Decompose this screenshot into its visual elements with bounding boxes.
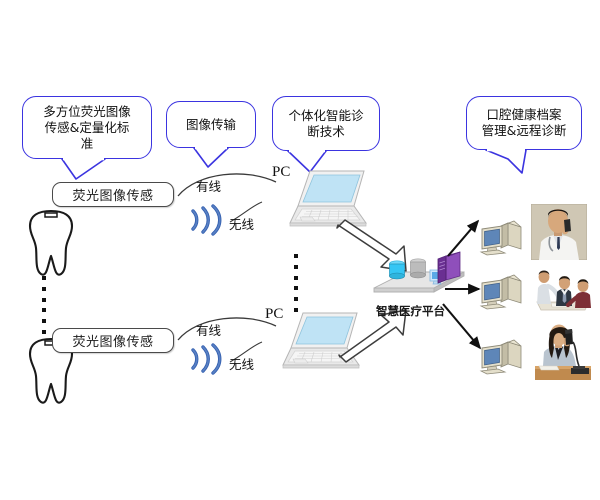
callout-image-transmission: 图像传输 — [166, 101, 256, 148]
client-photo-team-meeting — [531, 264, 595, 312]
dotted-divider-icon — [41, 276, 46, 334]
sensor-bottom-label: 荧光图像传感 — [72, 331, 153, 350]
callout-4-tail — [484, 148, 540, 176]
wireless-label-top: 无线 — [229, 214, 254, 233]
tooth-icon — [22, 208, 80, 280]
diagram-canvas: 多方位荧光图像 传感&定量化标 准 图像传输 个体化智能诊 断技术 口腔健康档案… — [0, 0, 600, 500]
client-photo-doctor-on-phone — [531, 204, 587, 260]
callout-1-tail — [60, 157, 120, 181]
callout-2-text: 图像传输 — [186, 117, 236, 133]
wired-label-top: 有线 — [196, 176, 221, 195]
desktop-computer-icon — [478, 338, 524, 378]
wired-label-bottom: 有线 — [196, 320, 221, 339]
wireless-label-bottom: 无线 — [229, 354, 254, 373]
dotted-divider-icon — [293, 254, 298, 312]
desktop-computer-icon — [478, 219, 524, 259]
callout-intelligent-diagnosis: 个体化智能诊 断技术 — [272, 96, 380, 151]
platform-label: 智慧医疗平台 — [376, 303, 445, 319]
sensor-box-bottom: 荧光图像传感 — [52, 328, 174, 353]
callout-4-text: 口腔健康档案 管理&远程诊断 — [482, 107, 567, 139]
wired-link-top — [176, 166, 286, 204]
desktop-computer-icon — [478, 273, 524, 313]
callout-3-text: 个体化智能诊 断技术 — [288, 108, 363, 140]
callout-1-text: 多方位荧光图像 传感&定量化标 准 — [43, 104, 131, 152]
sensor-box-top: 荧光图像传感 — [52, 182, 174, 207]
sensor-top-label: 荧光图像传感 — [72, 185, 153, 204]
callout-multiplex-fluorescence: 多方位荧光图像 传感&定量化标 准 — [22, 96, 152, 159]
client-photo-woman-on-phone — [531, 322, 595, 382]
callout-health-records: 口腔健康档案 管理&远程诊断 — [466, 96, 582, 150]
